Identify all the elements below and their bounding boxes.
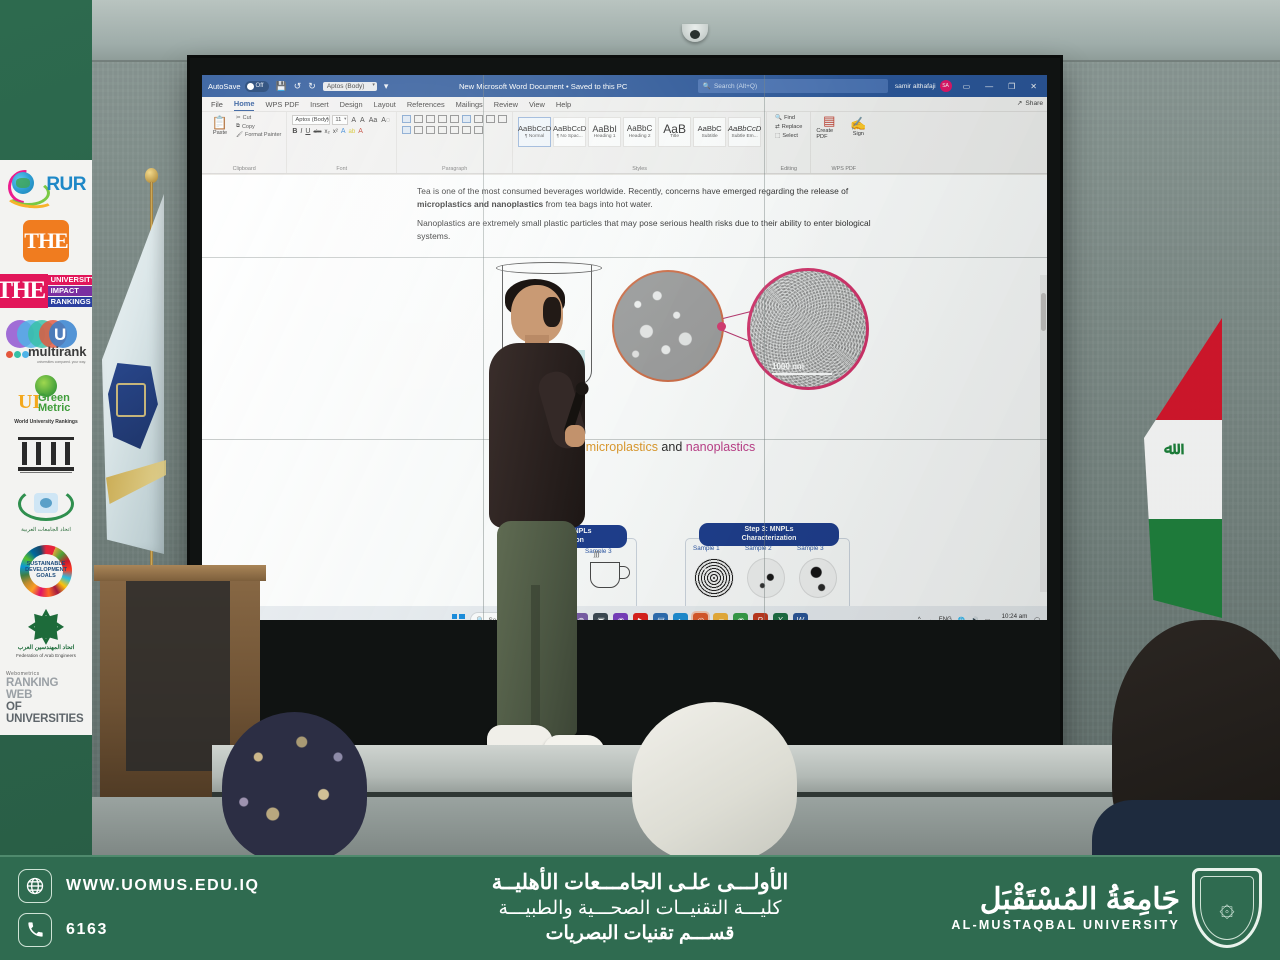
replace-label: Replace xyxy=(782,124,803,130)
select-icon: ⬚ xyxy=(775,133,780,139)
taskbar-app-browser-active[interactable]: ◎ xyxy=(693,613,708,621)
create-pdf-button[interactable]: ▤ Create PDF xyxy=(816,115,842,140)
sdg-goals-logo: SUSTAINABLE DEVELOPMENT GOALS xyxy=(4,545,88,597)
tab-references[interactable]: References xyxy=(407,100,445,111)
underline-button[interactable]: U xyxy=(305,128,310,135)
fae-arabic: اتحاد المهندسين العرب xyxy=(9,644,83,651)
phone-label: 6163 xyxy=(66,921,108,939)
windows-taskbar: 1 23°C مشمس غالباً 🔍 Search xyxy=(202,606,1047,620)
tab-layout[interactable]: Layout xyxy=(374,100,396,111)
account-name: samir althafaji xyxy=(895,83,936,90)
step-3-line2: Characterization xyxy=(709,535,829,544)
justify-icon[interactable] xyxy=(438,126,447,134)
select-button[interactable]: ⬚Select xyxy=(775,133,802,139)
format-painter-button[interactable]: 🖌Format Painter xyxy=(236,132,281,138)
style-name: Title xyxy=(670,134,679,139)
find-label: Find xyxy=(784,115,795,121)
webometrics-line2: RANKING WEB xyxy=(6,677,86,701)
sdg-label: SUSTAINABLE DEVELOPMENT GOALS xyxy=(20,545,72,597)
align-center-icon[interactable] xyxy=(414,126,423,134)
style-preview: AaB xyxy=(663,125,686,133)
minimize-button[interactable]: — xyxy=(981,82,997,91)
ltr-text-icon[interactable] xyxy=(474,115,483,123)
the-impact-line3: RANKINGS xyxy=(48,297,99,307)
format-painter-label: Format Painter xyxy=(245,132,281,138)
word-title-bar: AutoSave Off 💾 ↺ ↻ Aptos (Body) ▾ New Mi… xyxy=(202,75,1047,97)
search-icon: 🔍 xyxy=(703,82,711,90)
battery-icon[interactable]: ▭ xyxy=(985,617,991,621)
university-banner: WWW.UOMUS.EDU.IQ 6163 الأولـــى علـى الج… xyxy=(0,855,1280,960)
multirank-sub: universities compared. your way. xyxy=(37,360,86,364)
tab-review[interactable]: Review xyxy=(494,100,518,111)
tab-mailings[interactable]: Mailings xyxy=(456,100,483,111)
step-3-sample-2-label: Sample 2 xyxy=(745,545,772,552)
ribbon-tab-strip: File Home WPS PDF Insert Design Layout R… xyxy=(202,97,1047,112)
taskbar-clock[interactable]: 10:24 am 01/04/2026 xyxy=(996,613,1027,620)
the-impact-line2: IMPACT xyxy=(48,286,99,296)
shading-icon[interactable] xyxy=(462,126,471,134)
presentation-photo: ﷲ AutoSave Off 💾 ↺ ↻ Aptos (Body) ▾ New … xyxy=(92,0,1280,855)
font-size-selector[interactable]: 11 xyxy=(332,115,348,125)
university-shield-icon: ۞ xyxy=(1192,868,1262,948)
style-name: Subtle Em... xyxy=(732,134,758,139)
multirank-label: multirank xyxy=(28,344,87,359)
nanoplastics-micrograph: 1000 nm xyxy=(747,268,869,390)
sample-1-image xyxy=(694,558,734,598)
accreditation-logo-rail: RUR THE THE UNIVERSITY IMPACT RANKINGS U xyxy=(0,160,92,735)
tab-wps-pdf[interactable]: WPS PDF xyxy=(265,100,299,111)
restore-button[interactable]: ❐ xyxy=(1004,82,1019,91)
autosave-state: Off xyxy=(256,83,264,89)
style-heading-1[interactable]: AaBbI Heading 1 xyxy=(588,117,621,147)
paste-icon: 📋 xyxy=(212,117,228,129)
ribbon: 📋 Paste ✂Cut ⧉Copy 🖌Format Painter Clipb… xyxy=(202,112,1047,174)
ribbon-group-clipboard: 📋 Paste ✂Cut ⧉Copy 🖌Format Painter Clipb… xyxy=(202,112,287,173)
contact-block: WWW.UOMUS.EDU.IQ 6163 xyxy=(18,869,348,947)
subscript-button[interactable]: x₂ xyxy=(325,129,330,135)
rtl-text-icon[interactable] xyxy=(462,115,471,123)
superscript-button[interactable]: x² xyxy=(333,129,338,135)
document-scrollbar[interactable] xyxy=(1040,275,1047,592)
wps-group-label: WPS PDF xyxy=(816,166,871,173)
show-formatting-marks-icon[interactable] xyxy=(498,115,507,123)
website-row[interactable]: WWW.UOMUS.EDU.IQ xyxy=(18,869,348,903)
iraq-flag-right: ﷲ xyxy=(1144,318,1222,648)
paste-label: Paste xyxy=(213,130,227,136)
windows-start-icon[interactable] xyxy=(452,614,465,621)
greenmetric-ui: UI xyxy=(18,391,40,414)
webometrics-line3: OF UNIVERSITIES xyxy=(6,701,86,725)
font-group-label: Font xyxy=(292,166,391,173)
autosave-label: AutoSave xyxy=(208,82,241,91)
style-name: Subtitle xyxy=(702,134,718,139)
the-impact-letters: THE xyxy=(0,274,48,308)
audience-head-left xyxy=(222,712,367,855)
shrink-font-icon[interactable]: A xyxy=(359,117,366,124)
institution-flag-left xyxy=(106,168,186,598)
sign-label: Sign xyxy=(853,131,864,137)
step-3-sample-1-label: Sample 1 xyxy=(693,545,720,552)
banner-line-3: قســـم تقنيات البصريات xyxy=(348,922,932,945)
style-title[interactable]: AaB Title xyxy=(658,117,691,147)
replace-button[interactable]: ⇄Replace xyxy=(775,124,802,130)
the-logo: THE xyxy=(4,220,88,262)
clipboard-group-label: Clipboard xyxy=(207,166,281,173)
association-arab-universities-logo: اتحاد الجامعات العربية xyxy=(4,485,88,533)
style-no-spacing[interactable]: AaBbCcD ¶ No Spac... xyxy=(553,117,586,147)
tab-view[interactable]: View xyxy=(529,100,545,111)
ribbon-group-styles: AaBbCcD ¶ Normal AaBbCcD ¶ No Spac... Aa… xyxy=(513,112,767,173)
ribbon-group-editing: 🔍Find ⇄Replace ⬚Select Editing xyxy=(767,112,811,173)
sort-icon[interactable] xyxy=(486,115,495,123)
select-label: Select xyxy=(782,133,798,139)
styles-group-label: Styles xyxy=(518,166,761,173)
strikethrough-button[interactable]: abc xyxy=(313,129,321,135)
style-normal[interactable]: AaBbCcD ¶ Normal xyxy=(518,117,551,147)
globe-icon xyxy=(12,172,34,194)
style-preview: AaBbCcD xyxy=(553,125,586,133)
decrease-indent-icon[interactable] xyxy=(438,115,447,123)
language-indicator[interactable]: ENG xyxy=(939,617,952,620)
taskbar-app-chrome[interactable]: ◉ xyxy=(733,613,748,621)
university-name-arabic: جَامِعَةُ المُسْتَقْبَل xyxy=(951,884,1180,916)
multirank-u-letter: U xyxy=(54,325,66,345)
word-search-input[interactable]: 🔍 Search (Alt+Q) xyxy=(698,79,888,93)
style-name: Heading 2 xyxy=(629,134,651,139)
banner-line-1: الأولـــى علـى الجامـــعات الأهليــة xyxy=(348,870,932,895)
workflow-steps: Step 2: MNPLs Sanitation Sample 3 ∫∫∫ St… xyxy=(397,520,877,606)
ribbon-group-paragraph: Paragraph xyxy=(397,112,513,173)
style-preview: AaBbC xyxy=(627,125,652,133)
text-effects-icon[interactable]: A xyxy=(341,128,346,135)
rur-logo: RUR xyxy=(4,168,88,208)
account-area[interactable]: samir althafaji SA xyxy=(895,80,952,92)
presenter xyxy=(477,285,597,805)
phone-icon xyxy=(18,913,52,947)
style-preview: AaBbCcD xyxy=(518,125,551,133)
audience-head-center xyxy=(632,702,797,855)
pdf-icon: ▤ xyxy=(823,115,835,127)
find-button[interactable]: 🔍Find xyxy=(775,115,802,121)
clock-time: 10:24 am xyxy=(996,613,1027,620)
paragraph-1-bold: microplastics and nanoplastics xyxy=(417,199,543,209)
paragraph-group-label: Paragraph xyxy=(402,166,507,173)
font-color-icon[interactable]: A xyxy=(358,128,363,135)
sample-3-image xyxy=(799,558,837,598)
sign-icon: ✍ xyxy=(850,118,866,130)
align-left-icon[interactable] xyxy=(402,126,411,134)
aau-caption: اتحاد الجامعات العربية xyxy=(8,527,84,533)
clear-formatting-icon[interactable]: A◌ xyxy=(380,117,391,124)
brush-icon: 🖌 xyxy=(236,132,243,138)
save-icon[interactable]: 💾 xyxy=(276,81,287,92)
webometrics-logo: Webometrics RANKING WEB OF UNIVERSITIES xyxy=(4,671,88,725)
avatar[interactable]: SA xyxy=(940,80,952,92)
aau-emblem-icon xyxy=(34,493,58,513)
the-impact-rankings-logo: THE UNIVERSITY IMPACT RANKINGS xyxy=(4,274,88,308)
the-impact-line1: UNIVERSITY xyxy=(48,275,99,285)
share-icon: ↗ xyxy=(1017,99,1023,107)
step-3-title: Step 3: MNPLs Characterization xyxy=(699,523,839,546)
document-paragraph-1: Tea is one of the most consumed beverage… xyxy=(417,185,882,210)
multirank-dots xyxy=(6,351,29,358)
microsoft-word-window: AutoSave Off 💾 ↺ ↻ Aptos (Body) ▾ New Mi… xyxy=(202,75,1047,620)
the-logo-label: THE xyxy=(24,228,67,254)
grow-font-icon[interactable]: A xyxy=(350,117,357,124)
rur-logo-label: RUR xyxy=(46,174,86,196)
share-button[interactable]: ↗ Share xyxy=(1017,99,1043,107)
increase-indent-icon[interactable] xyxy=(450,115,459,123)
scale-bar-label: 1000 nm xyxy=(772,362,804,371)
undo-icon[interactable]: ↺ xyxy=(294,81,302,92)
bullets-icon[interactable] xyxy=(402,115,411,123)
align-right-icon[interactable] xyxy=(426,126,435,134)
caption-nanoplastics: nanoplastics xyxy=(686,440,756,454)
tab-design[interactable]: Design xyxy=(340,100,363,111)
style-name: ¶ Normal xyxy=(525,134,544,139)
taskbar-app-powerpoint[interactable]: P xyxy=(753,613,768,621)
taskbar-app-word[interactable]: W xyxy=(793,613,808,621)
tab-home[interactable]: Home xyxy=(234,99,255,111)
ribbon-group-wps-pdf: ▤ Create PDF ✍ Sign WPS PDF xyxy=(811,112,876,173)
bold-button[interactable]: B xyxy=(292,128,297,135)
replace-icon: ⇄ xyxy=(775,124,780,130)
borders-icon[interactable] xyxy=(474,126,483,134)
step-3-line1: Step 3: MNPLs xyxy=(709,526,829,535)
globe-www-icon xyxy=(18,869,52,903)
scissors-icon: ✂ xyxy=(236,115,241,121)
create-pdf-label: Create PDF xyxy=(816,128,842,140)
u-multirank-logo: U multirank universities compared. your … xyxy=(4,320,88,364)
sample-2-image xyxy=(747,558,785,598)
volume-icon[interactable]: 🔊 xyxy=(971,617,978,621)
phone-row[interactable]: 6163 xyxy=(18,913,348,947)
ribbon-group-font: Aptos (Body) 11 A A Aa A◌ B I U xyxy=(287,112,397,173)
ui-greenmetric-logo: UI Green Metric World University Ranking… xyxy=(4,375,88,425)
university-name-english: AL-MUSTAQBAL UNIVERSITY xyxy=(951,918,1180,932)
style-preview: AaBbC xyxy=(698,125,722,133)
notifications-icon[interactable]: 🗨 xyxy=(1033,617,1041,621)
taskbar-app-excel[interactable]: X xyxy=(773,613,788,621)
tab-insert[interactable]: Insert xyxy=(310,100,328,111)
taskbar-app-youtube[interactable]: ▶ xyxy=(633,613,648,621)
taskbar-app-firefox[interactable]: ◉ xyxy=(613,613,628,621)
highlight-icon[interactable]: ab xyxy=(349,129,356,135)
document-title: New Microsoft Word Document • Saved to t… xyxy=(395,82,691,91)
greenmetric-metric: Metric xyxy=(38,402,70,414)
italic-button[interactable]: I xyxy=(300,128,302,135)
paragraph-1-part-1: Tea is one of the most consumed beverage… xyxy=(417,186,848,196)
style-preview: AaBbI xyxy=(592,125,617,133)
redo-icon[interactable]: ↻ xyxy=(308,81,316,92)
copy-icon: ⧉ xyxy=(236,123,240,130)
eight-point-star-icon xyxy=(28,609,64,645)
tab-help[interactable]: Help xyxy=(556,100,571,111)
style-preview: AaBbCcD xyxy=(728,125,761,133)
share-label: Share xyxy=(1025,100,1043,107)
paste-button[interactable]: 📋 Paste xyxy=(207,115,233,138)
style-heading-2[interactable]: AaBbC Heading 2 xyxy=(623,117,656,147)
page-frame: RUR THE THE UNIVERSITY IMPACT RANKINGS U xyxy=(0,0,1280,960)
tab-file[interactable]: File xyxy=(211,100,223,111)
fae-english: Federation of Arab Engineers xyxy=(9,653,83,658)
unesco-temple-logo xyxy=(4,437,88,473)
microplastics-micrograph xyxy=(612,270,724,382)
document-page[interactable]: Tea is one of the most consumed beverage… xyxy=(202,175,1047,606)
step-3-sample-3-label: Sample 3 xyxy=(797,545,824,552)
greenmetric-caption: World University Rankings xyxy=(8,419,84,425)
numbering-icon[interactable] xyxy=(414,115,423,123)
close-button[interactable]: ✕ xyxy=(1026,82,1041,91)
university-identity: جَامِعَةُ المُسْتَقْبَل AL-MUSTAQBAL UNI… xyxy=(932,868,1262,948)
taskbar-app-explorer[interactable]: ▰ xyxy=(713,613,728,621)
word-search-placeholder: Search (Alt+Q) xyxy=(714,83,757,90)
caption-mid: and xyxy=(658,440,686,454)
scale-bar xyxy=(772,373,832,375)
ribbon-display-options-icon[interactable]: ▭ xyxy=(959,82,975,91)
tray-chevron-icon[interactable]: ^ xyxy=(918,617,921,620)
led-seam-h2 xyxy=(202,439,1047,440)
banner-line-2: كليـــة التقنيــات الصحـــية والطبيـــة xyxy=(348,897,932,920)
cut-label: Cut xyxy=(243,115,252,121)
cut-button[interactable]: ✂Cut xyxy=(236,115,281,121)
copy-label: Copy xyxy=(242,124,255,130)
document-paragraph-2: Nanoplastics are extremely small plastic… xyxy=(417,217,899,242)
taskbar-app-edge[interactable]: ◐ xyxy=(673,613,688,621)
network-icon[interactable]: 🌐 xyxy=(958,617,965,621)
led-seam-h1 xyxy=(202,257,1047,258)
style-subtle-emphasis[interactable]: AaBbCcD Subtle Em... xyxy=(728,117,761,147)
paragraph-1-part-3: from tea bags into hot water. xyxy=(543,199,653,209)
copy-button[interactable]: ⧉Copy xyxy=(236,123,281,130)
onedrive-icon[interactable]: ☁ xyxy=(927,617,933,621)
sign-button[interactable]: ✍ Sign xyxy=(845,115,871,140)
federation-arab-engineers-logo: اتحاد المهندسين العرب Federation of Arab… xyxy=(4,609,88,659)
banner-arabic-text: الأولـــى علـى الجامـــعات الأهليــة كلي… xyxy=(348,870,932,945)
style-name: ¶ No Spac... xyxy=(556,134,582,139)
quick-font-selector[interactable]: Aptos (Body) xyxy=(323,82,377,91)
autosave-toggle[interactable]: AutoSave Off xyxy=(208,81,269,92)
taskbar-system-tray: ^ ☁ ENG 🌐 🔊 ▭ 10:24 am 01/04/2026 🗨 xyxy=(876,613,1041,620)
style-name: Heading 1 xyxy=(594,134,616,139)
line-spacing-icon[interactable] xyxy=(450,126,459,134)
change-case-icon[interactable]: Aa xyxy=(368,117,379,124)
led-seam-v2 xyxy=(764,75,765,620)
magnifier-icon: 🔍 xyxy=(775,115,782,121)
editing-group-label: Editing xyxy=(772,166,805,173)
projected-screen: AutoSave Off 💾 ↺ ↻ Aptos (Body) ▾ New Mi… xyxy=(202,75,1047,620)
style-subtitle[interactable]: AaBbC Subtitle xyxy=(693,117,726,147)
website-label: WWW.UOMUS.EDU.IQ xyxy=(66,877,260,895)
font-name-selector[interactable]: Aptos (Body) xyxy=(292,115,330,125)
taskbar-app-store[interactable]: ▤ xyxy=(653,613,668,621)
audience-shoulders-right xyxy=(1092,800,1280,855)
customize-quick-access-icon[interactable]: ▾ xyxy=(384,81,389,92)
multilevel-list-icon[interactable] xyxy=(426,115,435,123)
